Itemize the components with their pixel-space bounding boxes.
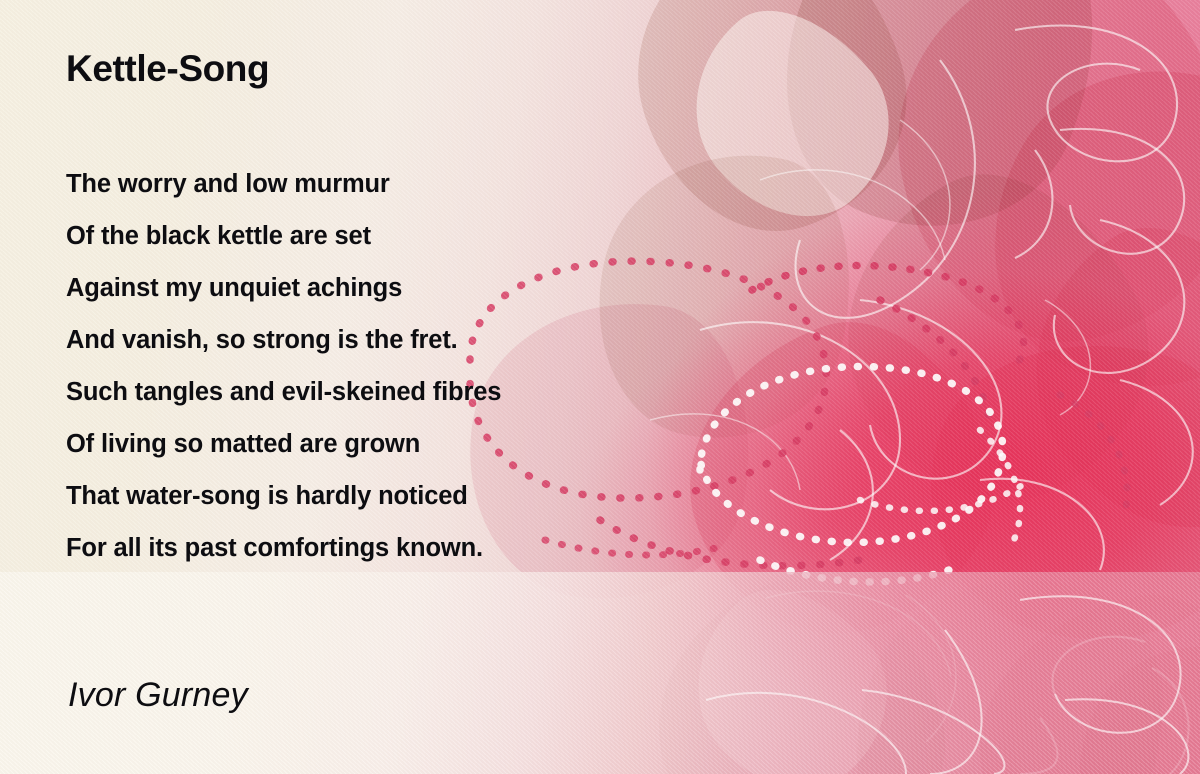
- poem-line: Against my unquiet achings: [66, 262, 706, 314]
- poem-stanza: The worry and low murmur Of the black ke…: [66, 158, 706, 574]
- poem-line: Such tangles and evil-skeined fibres: [66, 366, 706, 418]
- poem-line: And vanish, so strong is the fret.: [66, 314, 706, 366]
- poem-image-card: Kettle-Song The worry and low murmur Of …: [0, 0, 1200, 774]
- poem-line: The worry and low murmur: [66, 158, 706, 210]
- poem-line: Of living so matted are grown: [66, 418, 706, 470]
- poem-line: For all its past comfortings known.: [66, 522, 706, 574]
- page-title: Kettle-Song: [66, 48, 269, 90]
- poem-text-content: Kettle-Song The worry and low murmur Of …: [0, 0, 1200, 774]
- poem-line: Of the black kettle are set: [66, 210, 706, 262]
- poem-line: That water-song is hardly noticed: [66, 470, 706, 522]
- poem-author-name: Ivor Gurney: [68, 676, 248, 715]
